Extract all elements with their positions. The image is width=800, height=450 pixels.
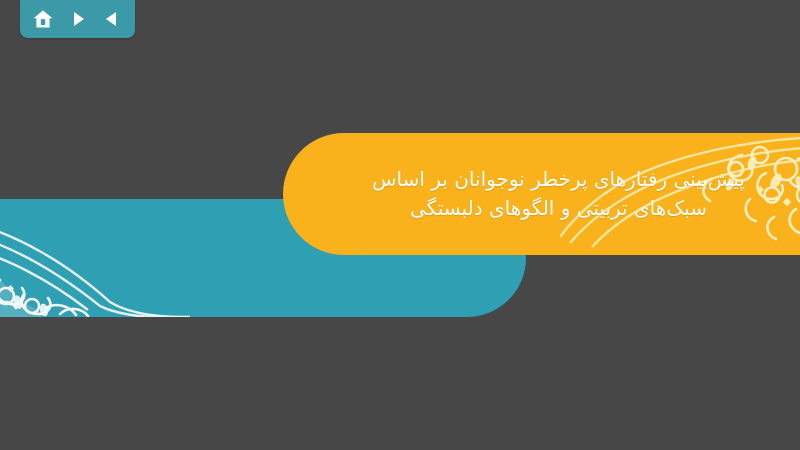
teal-arabesque-ornament (0, 202, 190, 317)
forward-arrow-icon (68, 9, 88, 29)
slide-title: پیش‌بینی رفتارهای پرخطر نوجوانان بر اساس… (283, 165, 800, 223)
title-line-1: پیش‌بینی رفتارهای پرخطر نوجوانان بر اساس (319, 165, 798, 194)
home-icon (32, 8, 54, 30)
back-arrow-icon (102, 9, 122, 29)
navigation-bar (20, 0, 135, 38)
home-button[interactable] (30, 6, 56, 32)
orange-title-banner: پیش‌بینی رفتارهای پرخطر نوجوانان بر اساس… (283, 133, 800, 255)
next-button[interactable] (65, 6, 91, 32)
title-line-2: سبک‌های تربیتی و الگوهای دلبستگی (319, 194, 798, 223)
previous-button[interactable] (99, 6, 125, 32)
presentation-slide: پیش‌بینی رفتارهای پرخطر نوجوانان بر اساس… (0, 0, 800, 450)
